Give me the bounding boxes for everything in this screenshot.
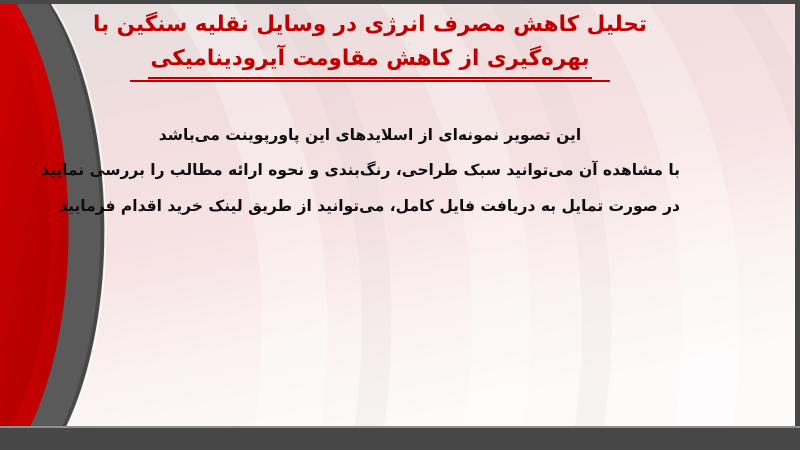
bottom-band-highlight bbox=[0, 426, 800, 428]
presentation-slide: تحلیل کاهش مصرف انرژی در وسایل نقلیه سنگ… bbox=[0, 0, 800, 450]
frame-top-edge bbox=[0, 0, 800, 4]
frame-right-edge bbox=[795, 0, 800, 450]
slide-title: تحلیل کاهش مصرف انرژی در وسایل نقلیه سنگ… bbox=[60, 8, 680, 82]
title-line-2: بهره‌گیری از کاهش مقاومت آیرودینامیکی bbox=[148, 42, 591, 79]
body-line-1: این تصویر نمونه‌ای از اسلایدهای این پاور… bbox=[60, 118, 680, 153]
title-underline-rule bbox=[130, 80, 610, 82]
body-line-2: با مشاهده آن می‌توانید سبک طراحی، رنگ‌بن… bbox=[60, 153, 680, 188]
body-line-3: در صورت تمایل به دریافت فایل کامل، می‌تو… bbox=[60, 189, 680, 224]
slide-content: تحلیل کاهش مصرف انرژی در وسایل نقلیه سنگ… bbox=[0, 0, 800, 450]
slide-body: این تصویر نمونه‌ای از اسلایدهای این پاور… bbox=[60, 118, 680, 224]
bottom-dark-band bbox=[0, 428, 800, 450]
title-line-1: تحلیل کاهش مصرف انرژی در وسایل نقلیه سنگ… bbox=[60, 8, 680, 42]
